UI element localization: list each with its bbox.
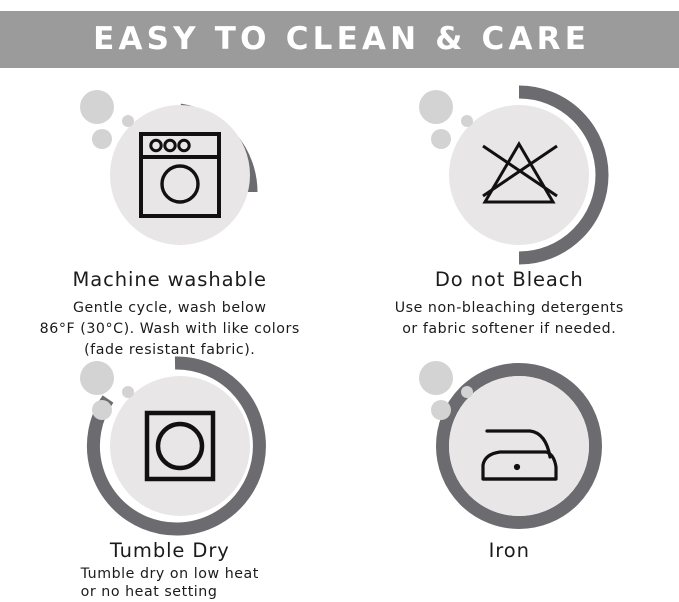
tumble-dry-glyph	[143, 409, 217, 483]
do-not-bleach-caption: Do not Bleach Use non-bleaching detergen…	[340, 263, 679, 340]
care-card-machine-washable: Machine washable Gentle cycle, wash belo…	[0, 68, 340, 339]
iron-badge	[414, 359, 604, 534]
bubble-large-icon	[80, 361, 114, 395]
care-instructions-grid: Machine washable Gentle cycle, wash belo…	[0, 68, 679, 594]
tumble-dry-icon	[120, 386, 240, 506]
card-description: Use non-bleaching detergents or fabric s…	[395, 298, 624, 339]
card-title: Tumble Dry	[110, 540, 230, 561]
washing-machine-icon	[120, 115, 240, 235]
bubble-medium-icon	[92, 129, 112, 149]
header-banner: EASY TO CLEAN & CARE	[0, 11, 679, 68]
care-card-iron: Iron	[340, 339, 679, 594]
card-title: Machine washable	[73, 269, 267, 290]
iron-caption: Iron	[340, 534, 679, 569]
iron-icon	[454, 394, 584, 514]
care-card-do-not-bleach: Do not Bleach Use non-bleaching detergen…	[340, 68, 679, 339]
machine-washable-badge	[75, 88, 265, 263]
tumble-dry-badge	[75, 359, 265, 534]
do-not-bleach-glyph	[475, 136, 563, 214]
page-title: EASY TO CLEAN & CARE	[89, 24, 590, 55]
tumble-dry-caption: Tumble Dry Tumble dry on low heat or no …	[0, 534, 340, 602]
washing-machine-glyph	[137, 130, 223, 220]
care-card-tumble-dry: Tumble Dry Tumble dry on low heat or no …	[0, 339, 340, 594]
bubble-medium-icon	[431, 400, 451, 420]
iron-glyph	[470, 421, 568, 487]
bubble-large-icon	[419, 90, 453, 124]
bubble-large-icon	[419, 361, 453, 395]
bubble-large-icon	[80, 90, 114, 124]
card-description: Tumble dry on low heat or no heat settin…	[81, 566, 259, 602]
card-title: Do not Bleach	[435, 269, 584, 290]
bubble-medium-icon	[431, 129, 451, 149]
do-not-bleach-icon	[459, 115, 579, 235]
card-title: Iron	[489, 540, 530, 561]
do-not-bleach-badge	[414, 88, 604, 263]
bubble-medium-icon	[92, 400, 112, 420]
